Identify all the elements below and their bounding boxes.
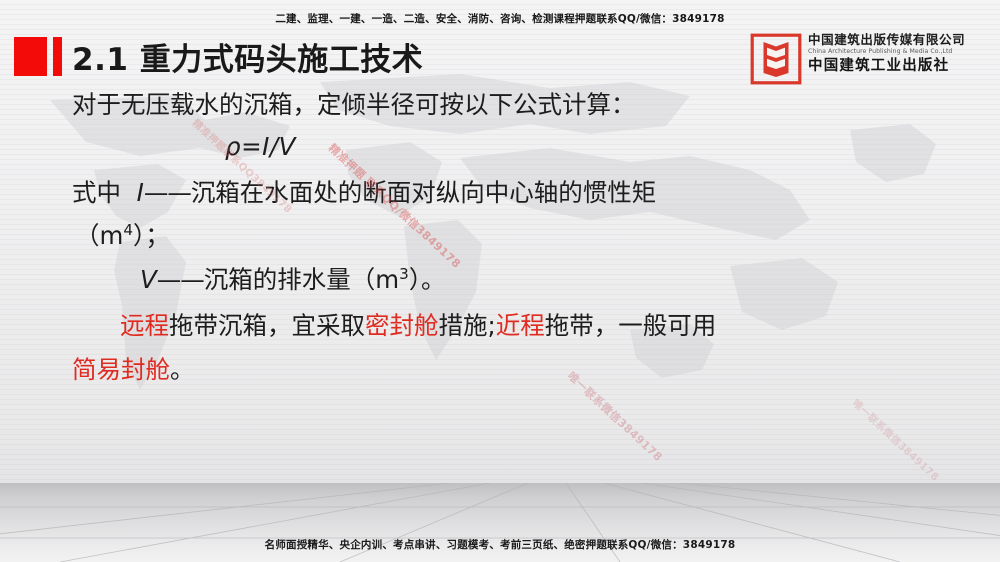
unit-exponent-1: 4 <box>123 221 133 239</box>
symbol-i: I <box>137 178 144 207</box>
definition-text-i: 沉箱在水面处的断面对纵向中心轴的惯性矩 <box>191 178 657 207</box>
highlight-jincheng: 近程 <box>496 311 545 340</box>
definition-dash-1: —— <box>144 178 191 207</box>
body-line-1: 对于无压载水的沉箱，定倾半径可按以下公式计算： <box>72 93 636 118</box>
body-line-5: V——沉箱的排水量（m3）。 <box>140 268 446 293</box>
definition-text-v: 沉箱的排水量 <box>204 265 351 294</box>
body-line-3: 式中 I——沉箱在水面处的断面对纵向中心轴的惯性矩 <box>72 181 656 206</box>
body-line-6: 远程拖带沉箱，宜采取密封舱措施;近程拖带，一般可用 <box>120 314 716 339</box>
highlight-yuancheng: 远程 <box>120 311 169 340</box>
definition-prefix: 式中 <box>72 178 121 207</box>
publisher-logo-mark-icon <box>750 33 802 85</box>
symbol-v: V <box>140 265 157 294</box>
body-line-4-unit-m4: （m4）； <box>75 224 170 249</box>
title-accent-bar-thin <box>53 37 62 76</box>
footer-promo-note: 名师面授精华、央企内训、考点串讲、习题模考、考前三页纸、绝密押题联系QQ/微信：… <box>0 537 1000 552</box>
unit-open-1: （m <box>75 221 123 250</box>
formula-rho: ρ <box>225 132 241 161</box>
formula-slash: / <box>270 132 279 161</box>
formula-equals: = <box>241 132 262 161</box>
unit-close-2: ）。 <box>409 265 446 294</box>
highlight-mifengcang: 密封舱 <box>365 311 439 340</box>
page-title: 2.1 重力式码头施工技术 <box>72 34 423 79</box>
header-promo-note: 二建、监理、一建、一造、二造、安全、消防、咨询、检测课程押题联系QQ/微信：38… <box>0 11 1000 26</box>
formula-rho-equals-i-over-v: ρ=I/V <box>225 135 296 160</box>
highlight-jianyifengcang: 简易封舱 <box>72 355 170 384</box>
formula-denominator: V <box>279 132 296 161</box>
publisher-logo-text: 中国建筑出版传媒有限公司 China Architecture Publishi… <box>808 32 994 76</box>
slide-body: 对于无压载水的沉箱，定倾半径可按以下公式计算： ρ=I/V 式中 I——沉箱在水… <box>0 93 1000 423</box>
definition-dash-2: —— <box>157 265 204 294</box>
line6-text-3: 拖带，一般可用 <box>545 311 717 340</box>
unit-open-2: （m <box>351 265 399 294</box>
body-line-7: 简易封舱。 <box>72 358 195 383</box>
publisher-company-en: China Architecture Publishing & Media Co… <box>808 47 994 56</box>
publisher-press-cn: 中国建筑工业出版社 <box>808 56 994 76</box>
formula-numerator: I <box>262 132 270 161</box>
unit-close-1: ）； <box>133 221 170 250</box>
title-accent-bar-wide <box>14 37 47 76</box>
unit-exponent-2: 3 <box>399 265 409 283</box>
slide-canvas: 二建、监理、一建、一造、二造、安全、消防、咨询、检测课程押题联系QQ/微信：38… <box>0 0 1000 562</box>
publisher-company-cn: 中国建筑出版传媒有限公司 <box>808 32 994 47</box>
line6-text-1: 拖带沉箱，宜采取 <box>169 311 365 340</box>
publisher-logo: 中国建筑出版传媒有限公司 China Architecture Publishi… <box>750 33 992 88</box>
line7-period: 。 <box>170 355 195 384</box>
line6-text-2: 措施; <box>439 311 496 340</box>
